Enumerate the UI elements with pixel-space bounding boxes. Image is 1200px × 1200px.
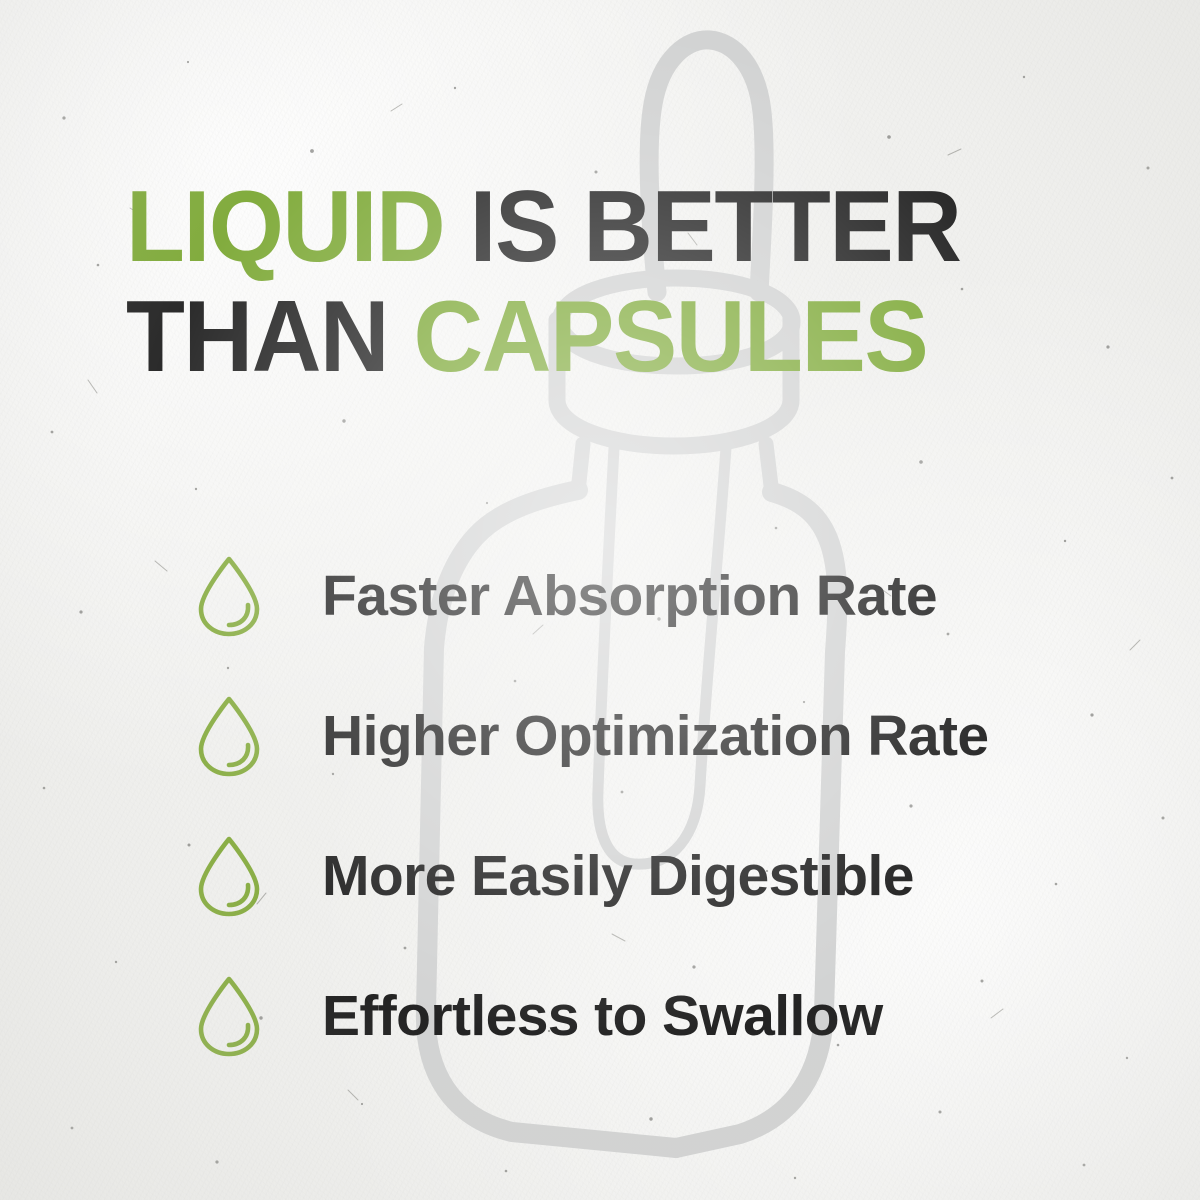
promo-graphic: LIQUID IS BETTER THAN CAPSULES Faster Ab… [0,0,1200,1200]
paper-vignette [0,0,1200,1200]
